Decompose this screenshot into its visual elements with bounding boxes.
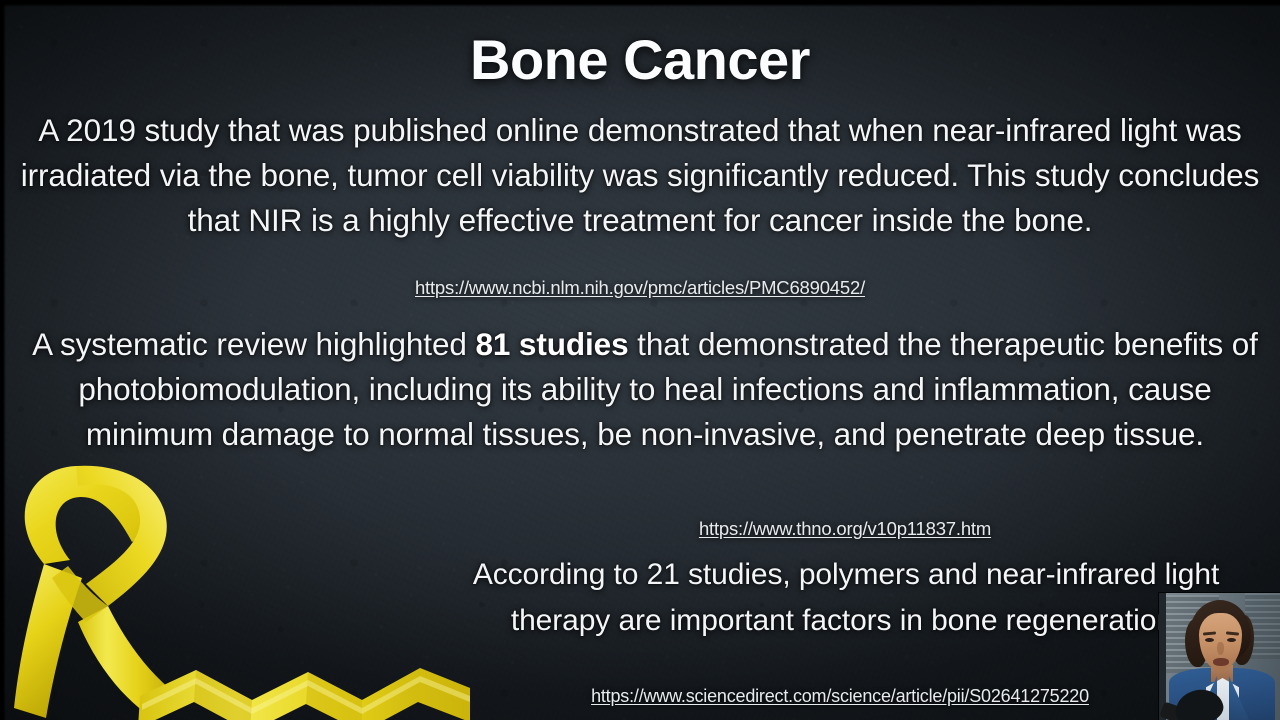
page-title: Bone Cancer bbox=[0, 27, 1280, 92]
slide-content: Bone Cancer A 2019 study that was publis… bbox=[0, 0, 1280, 720]
paragraph-2-highlight: 81 studies bbox=[475, 326, 628, 362]
paragraph-3: According to 21 studies, polymers and ne… bbox=[424, 552, 1268, 644]
paragraph-2: A systematic review highlighted 81 studi… bbox=[28, 322, 1262, 457]
presenter-eye-right bbox=[1227, 638, 1236, 642]
paragraph-2-text-before: A systematic review highlighted bbox=[32, 326, 475, 362]
webcam-left-shadow bbox=[1159, 593, 1166, 720]
presenter-eye-left bbox=[1205, 638, 1214, 642]
paragraph-3-text: According to 21 studies, polymers and ne… bbox=[473, 558, 1219, 637]
presenter-nose bbox=[1217, 642, 1224, 655]
source-link-2[interactable]: https://www.thno.org/v10p11837.htm bbox=[430, 517, 1260, 541]
paragraph-1-text: A 2019 study that was published online d… bbox=[21, 112, 1260, 238]
presenter-mouth bbox=[1213, 658, 1229, 666]
source-link-3[interactable]: https://www.sciencedirect.com/science/ar… bbox=[420, 684, 1260, 708]
paragraph-1: A 2019 study that was published online d… bbox=[18, 108, 1262, 243]
source-link-1[interactable]: https://www.ncbi.nlm.nih.gov/pmc/article… bbox=[18, 276, 1262, 300]
video-slide-frame: Bone Cancer A 2019 study that was publis… bbox=[0, 0, 1280, 720]
presenter-webcam-overlay[interactable] bbox=[1159, 593, 1280, 720]
